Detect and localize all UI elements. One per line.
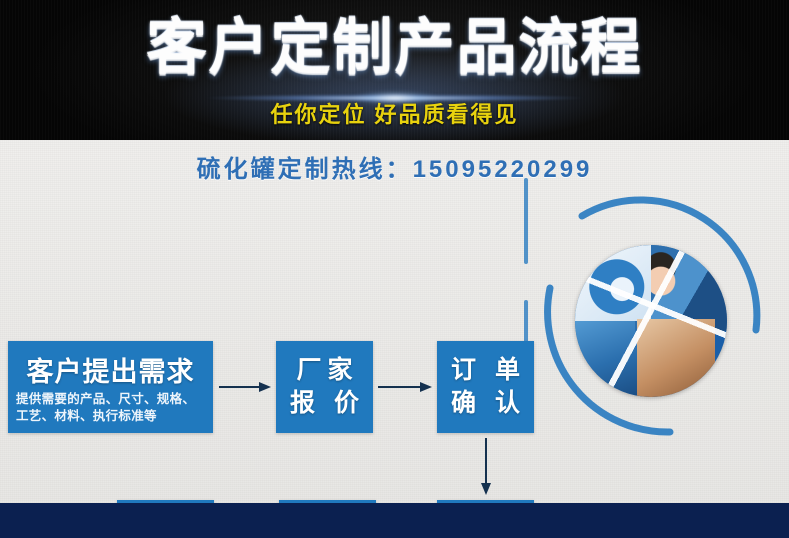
arrow-step1-to-step2 [219, 382, 271, 392]
header-banner: 客户定制产品流程 任你定位 好品质看得见 [0, 0, 789, 140]
arrow-line [219, 386, 263, 388]
page-title: 客户定制产品流程 [0, 12, 789, 84]
flow-step-line2: 确 认 [445, 387, 526, 420]
flow-step-customer-request[interactable]: 客户提出需求 提供需要的产品、尺寸、规格、工艺、材料、执行标准等 [8, 341, 213, 433]
promo-banner: 客户定制产品流程 任你定位 好品质看得见 硫化罐定制热线：15095220299 [0, 0, 789, 538]
page-subtitle: 任你定位 好品质看得见 [0, 100, 789, 130]
footer-bar [0, 503, 789, 538]
flow-step-title: 客户提出需求 [8, 355, 213, 389]
collage-dividers [575, 245, 727, 397]
flow-step-line1: 订 单 [445, 354, 526, 387]
flow-step-subtitle: 提供需要的产品、尺寸、规格、工艺、材料、执行标准等 [16, 391, 205, 425]
arrow-step2-to-step3 [378, 382, 432, 392]
business-collage-image [575, 245, 727, 397]
flow-step-factory-quote[interactable]: 厂家 报 价 [276, 341, 373, 433]
flow-canvas: 硫化罐定制热线：15095220299 NO.1 客户提出需求 提供需 [0, 140, 789, 503]
arrow-head-right-icon [259, 382, 271, 392]
arrow-head-right-icon [420, 382, 432, 392]
flow-step-line1: 厂家 [290, 354, 358, 387]
flow-step-order-confirm[interactable]: 订 单 确 认 [437, 341, 534, 433]
flow-step-line2: 报 价 [284, 387, 365, 420]
arrow-line [378, 386, 424, 388]
arrow-line [485, 438, 487, 486]
arrow-head-down-icon [481, 483, 491, 495]
arrow-step3-to-step4 [481, 438, 491, 495]
